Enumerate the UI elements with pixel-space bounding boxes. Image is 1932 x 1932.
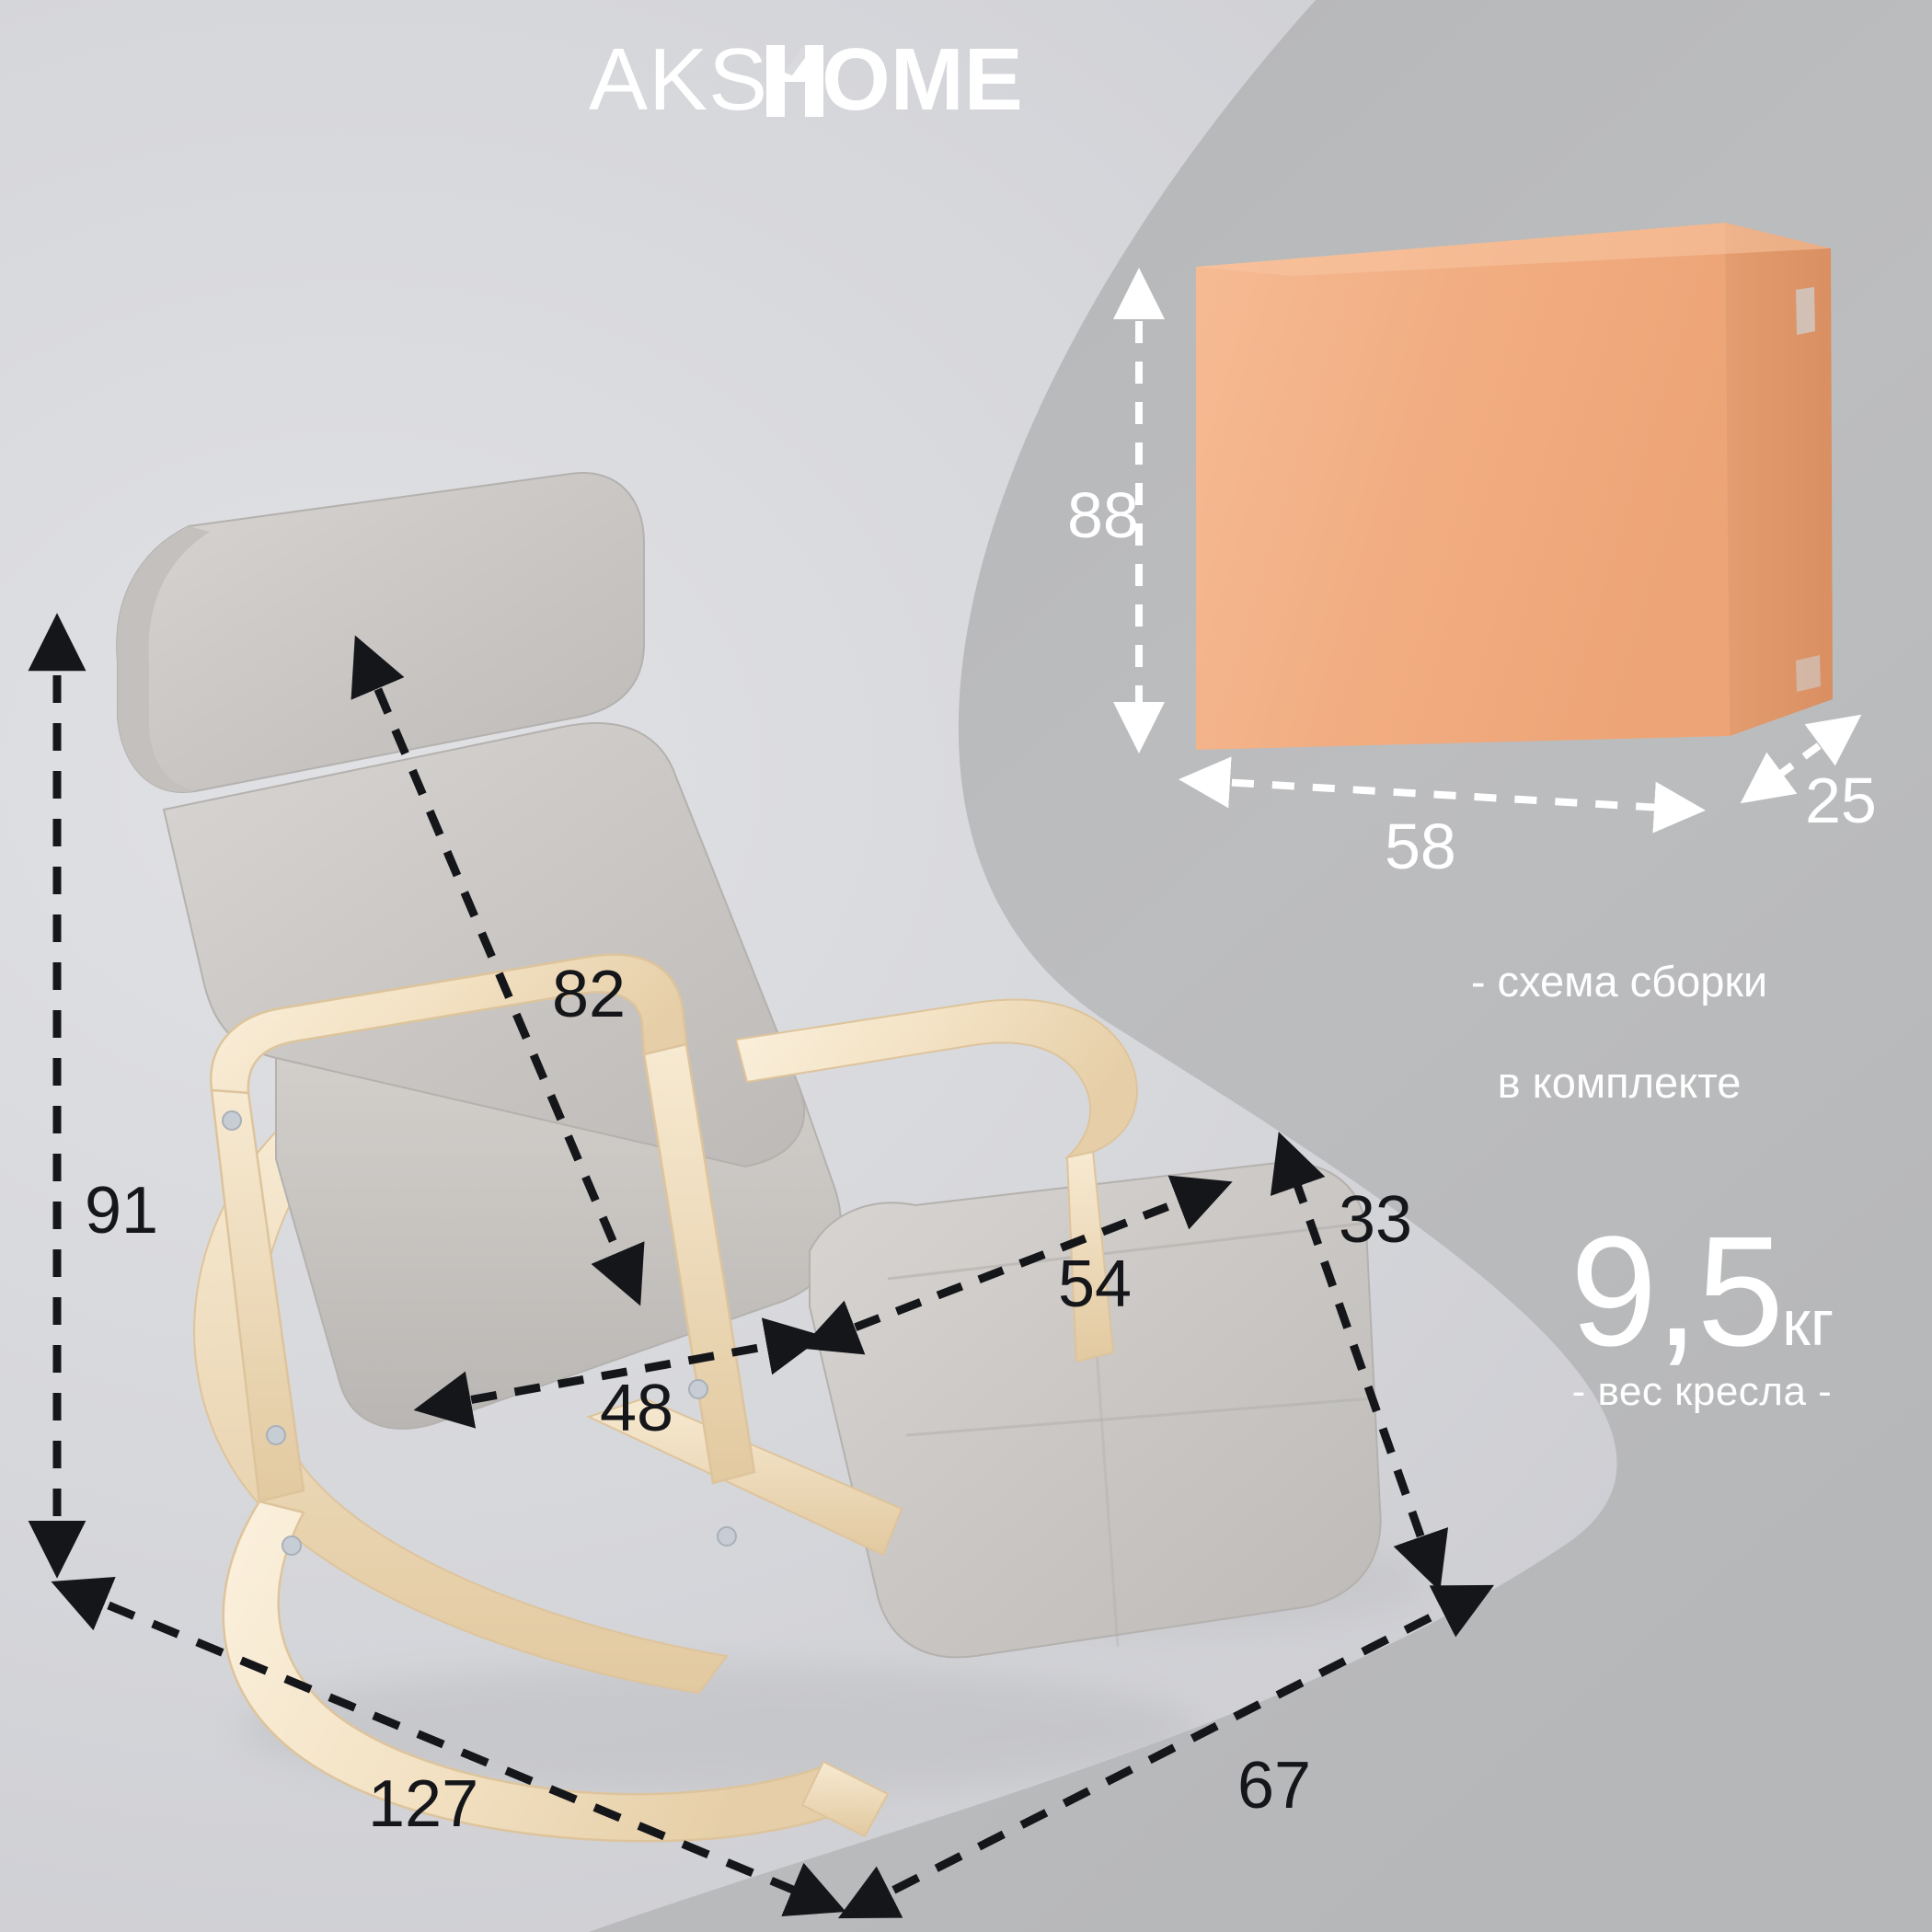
dimension-label-54: 54 <box>1058 1247 1132 1322</box>
brand-logo: AKS OME <box>589 44 1023 117</box>
dimension-label-88: 88 <box>1067 478 1139 552</box>
assembly-kit-note-line1: - схема сборки <box>1417 957 1822 1007</box>
dimension-label-67: 67 <box>1237 1748 1311 1823</box>
dimension-label-25: 25 <box>1805 764 1877 837</box>
product-infographic: AKS OME <box>0 0 1932 1932</box>
dimension-label-91: 91 <box>85 1173 158 1248</box>
dimension-label-127: 127 <box>368 1766 478 1842</box>
weight-block: 9,5кг - вес кресла - <box>1509 1224 1895 1415</box>
dimension-label-58: 58 <box>1385 810 1456 883</box>
weight-value: 9,5 <box>1570 1224 1782 1362</box>
stylized-h-icon <box>766 45 823 117</box>
dimension-label-33: 33 <box>1339 1182 1412 1258</box>
assembly-kit-note-line2: в комплекте <box>1417 1058 1822 1109</box>
weight-caption: - вес кресла - <box>1509 1369 1895 1415</box>
brand-logo-aks: AKS <box>589 44 768 117</box>
weight-value-row: 9,5кг <box>1509 1224 1895 1362</box>
weight-unit: кг <box>1782 1287 1834 1359</box>
assembly-kit-note: - схема сборки в комплекте <box>1417 906 1822 1159</box>
brand-logo-home: OME <box>766 44 1023 117</box>
brand-logo-home-text: OME <box>822 30 1023 129</box>
dimension-label-82: 82 <box>552 957 626 1032</box>
dimension-label-48: 48 <box>600 1371 673 1446</box>
